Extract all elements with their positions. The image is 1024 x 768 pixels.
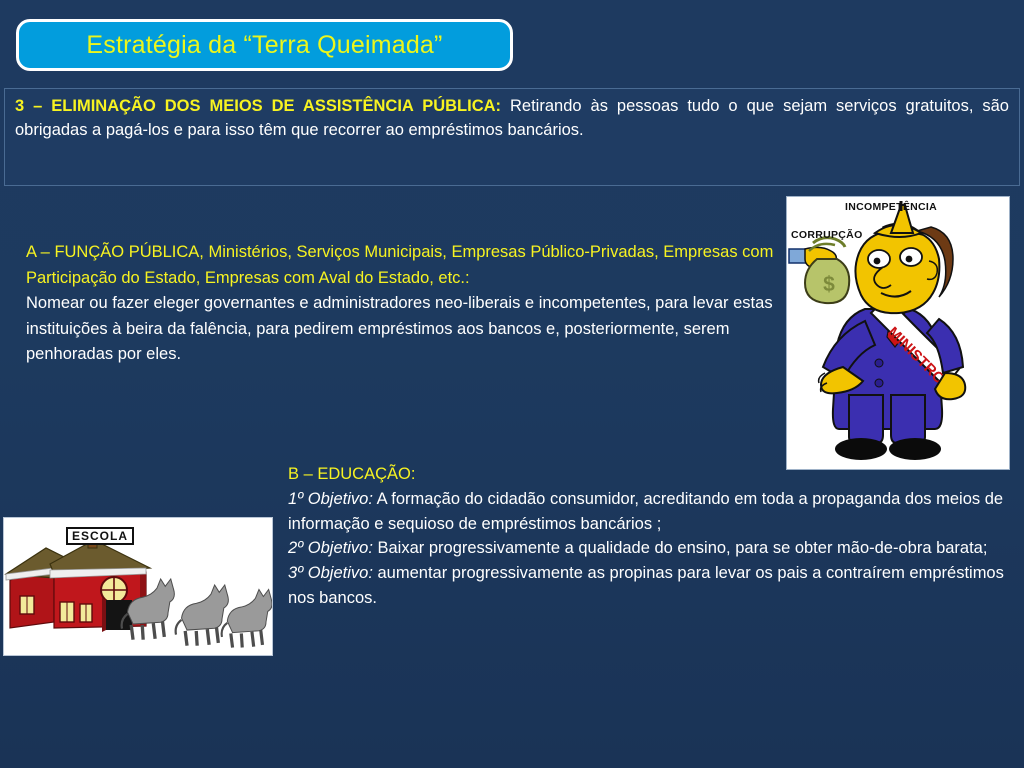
objective-1-label: 1º Objetivo:: [288, 490, 373, 508]
minister-cartoon-image: INCOMPETÊNCIA CORRUPÇÃO $ MINISTRO: [786, 196, 1010, 470]
section-a: A – FUNÇÃO PÚBLICA, Ministérios, Serviço…: [26, 240, 781, 368]
slide-title-box: Estratégia da “Terra Queimada”: [16, 19, 513, 71]
header-statement-box: 3 – ELIMINAÇÃO DOS MEIOS DE ASSISTÊNCIA …: [4, 88, 1020, 186]
objective-2-text: Baixar progressivamente a qualidade do e…: [373, 539, 988, 557]
header-lead-label: 3 – ELIMINAÇÃO DOS MEIOS DE ASSISTÊNCIA …: [15, 97, 501, 115]
school-illustration-image: ESCOLA: [3, 517, 273, 656]
section-a-body: Nomear ou fazer eleger governantes e adm…: [26, 291, 781, 368]
minister-body-group: MINISTRO: [819, 297, 966, 460]
objective-3-label: 3º Objetivo:: [288, 564, 373, 582]
page-title: Estratégia da “Terra Queimada”: [86, 31, 442, 60]
corrupcao-label: CORRUPÇÃO: [791, 229, 863, 241]
escola-sign-label: ESCOLA: [66, 527, 134, 545]
minister-head-group: [855, 201, 953, 313]
objective-2-label: 2º Objetivo:: [288, 539, 373, 557]
section-b: B – EDUCAÇÃO: 1º Objetivo: A formação do…: [288, 462, 1018, 611]
objective-3: 3º Objetivo: aumentar progressivamente a…: [288, 561, 1018, 611]
header-paragraph: 3 – ELIMINAÇÃO DOS MEIOS DE ASSISTÊNCIA …: [15, 95, 1009, 143]
objective-1: 1º Objetivo: A formação do cidadão consu…: [288, 487, 1018, 537]
incompetencia-label: INCOMPETÊNCIA: [845, 201, 937, 213]
objective-2: 2º Objetivo: Baixar progressivamente a q…: [288, 536, 1018, 561]
school-illustration-svg: [4, 518, 272, 655]
section-a-heading: A – FUNÇÃO PÚBLICA, Ministérios, Serviço…: [26, 240, 781, 291]
objective-3-text: aumentar progressivamente as propinas pa…: [288, 564, 1004, 607]
objective-1-text: A formação do cidadão consumidor, acredi…: [288, 490, 1003, 533]
corruption-hand-group: $: [789, 238, 849, 304]
svg-text:$: $: [823, 273, 835, 296]
